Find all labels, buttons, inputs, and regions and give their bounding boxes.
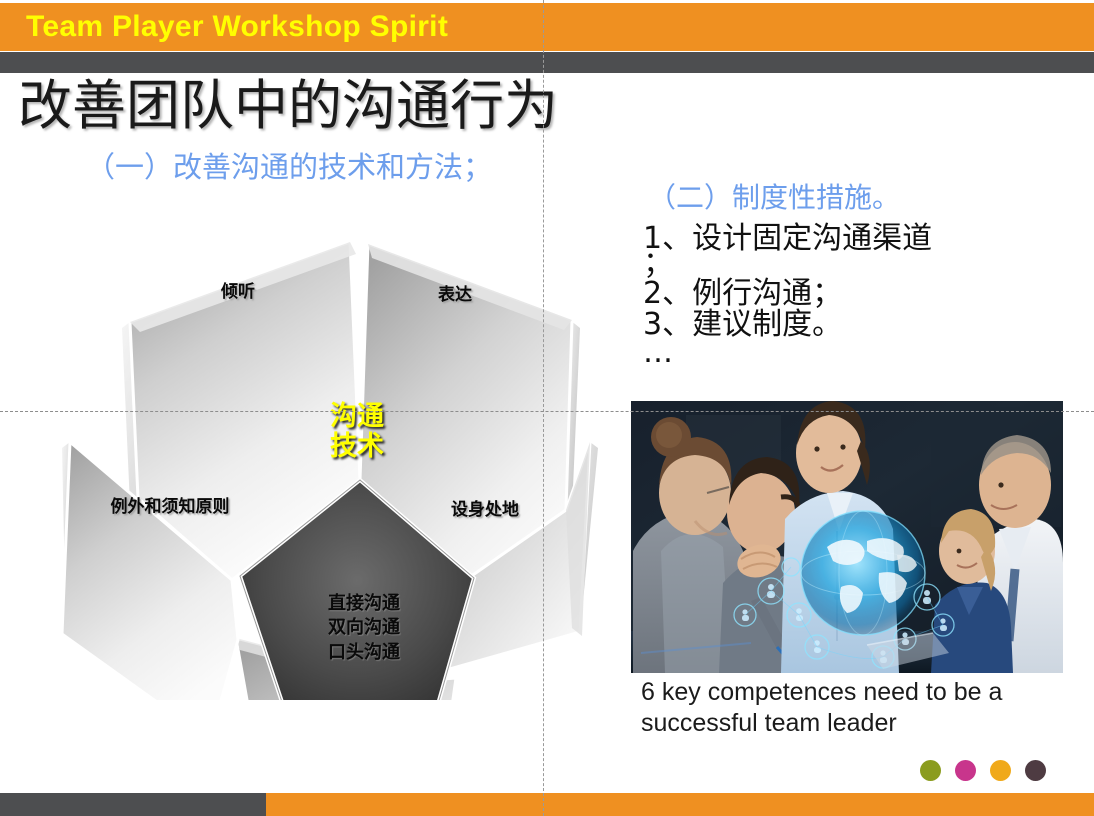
dot-magenta bbox=[955, 760, 976, 781]
dot-olive bbox=[920, 760, 941, 781]
dot-amber bbox=[990, 760, 1011, 781]
communication-skills-pentagon-diagram: 倾听 表达 设身处地 直接沟通 双向沟通 口头沟通 例外和须知原则 沟通 技术 bbox=[60, 180, 640, 700]
page-title: 改善团队中的沟通行为 bbox=[18, 79, 558, 133]
team-meeting-photo bbox=[631, 401, 1063, 673]
decorative-dot-row bbox=[920, 760, 1045, 782]
header-gray-bar bbox=[0, 52, 1094, 73]
footer-gray-bar bbox=[0, 793, 266, 816]
institutional-measures-list: 1、设计固定沟通渠道 ； 2、例行沟通； 3、建议制度。 … bbox=[643, 225, 1073, 367]
list-item: 2、例行沟通； bbox=[643, 280, 1073, 309]
dot-plum bbox=[1025, 760, 1046, 781]
slide-canvas: Team Player Workshop Spirit 改善团队中的沟通行为 （… bbox=[0, 0, 1094, 816]
footer-orange-bar bbox=[266, 793, 1094, 816]
list-item: 3、建议制度。 bbox=[643, 311, 1073, 340]
list-item-ellipsis: … bbox=[643, 341, 1073, 365]
workshop-banner-title: Team Player Workshop Spirit bbox=[26, 10, 448, 44]
section-two-heading: （二）制度性措施。 bbox=[648, 176, 900, 216]
photo-caption: 6 key competences need to be a successfu… bbox=[641, 677, 1071, 738]
